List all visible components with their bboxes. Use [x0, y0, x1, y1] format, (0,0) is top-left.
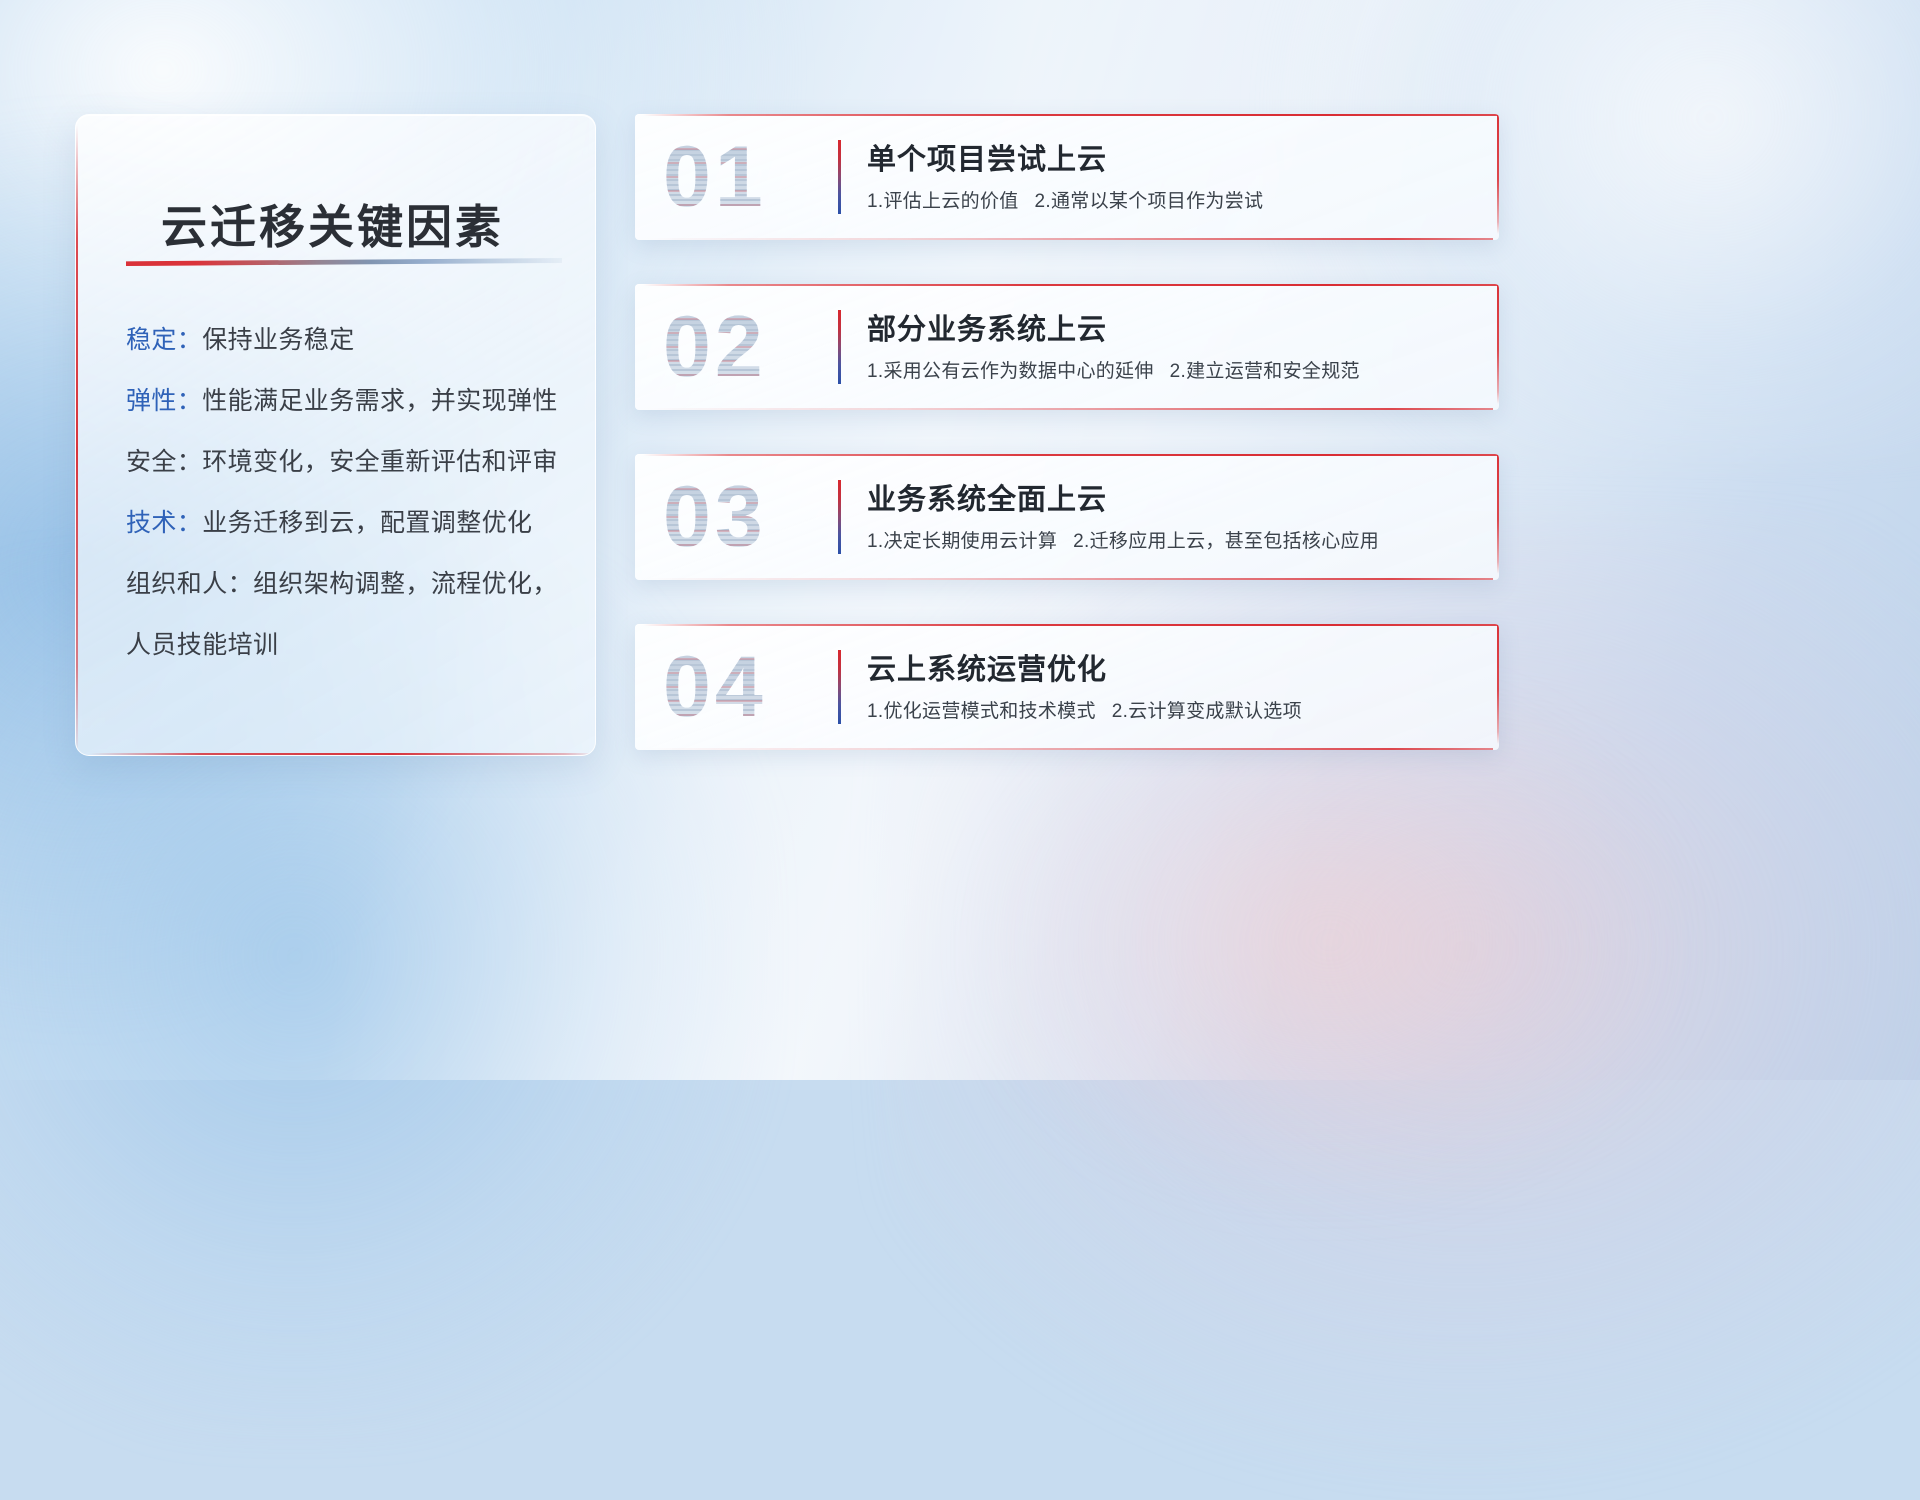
title-underline-gradient	[126, 258, 562, 266]
stage-card-bottom-edge	[645, 408, 1493, 410]
key-factor-value: 保持业务稳定	[202, 326, 354, 354]
stage-subtitle: 1.优化运营模式和技术模式2.云计算变成默认选项	[867, 696, 1302, 723]
stage-subtitle-point-2: 2.迁移应用上云，甚至包括核心应用	[1073, 531, 1379, 552]
stage-subtitle-point-1: 1.决定长期使用云计算	[867, 531, 1057, 552]
key-factor-item: 安全：环境变化，安全重新评估和评审	[126, 432, 567, 493]
stage-accent-bar	[838, 650, 841, 724]
stage-subtitle-point-2: 2.云计算变成默认选项	[1112, 701, 1302, 722]
stage-subtitle-point-2: 2.建立运营和安全规范	[1170, 361, 1360, 382]
key-factors-list: 稳定：保持业务稳定弹性：性能满足业务需求，并实现弹性安全：环境变化，安全重新评估…	[126, 310, 567, 676]
key-factors-panel: 云迁移关键因素 稳定：保持业务稳定弹性：性能满足业务需求，并实现弹性安全：环境变…	[75, 114, 596, 756]
stage-subtitle-point-1: 1.优化运营模式和技术模式	[867, 701, 1096, 722]
key-factor-value: 性能满足业务需求，并实现弹性	[202, 387, 558, 415]
stage-number-red-tint: 03	[663, 474, 767, 560]
stage-accent-bar	[838, 310, 841, 384]
stage-card-bottom-edge	[645, 748, 1493, 750]
migration-stage-card[interactable]: 010101单个项目尝试上云1.评估上云的价值2.通常以某个项目作为尝试	[635, 114, 1499, 240]
key-factor-value: 人员技能培训	[126, 631, 278, 659]
key-factor-item: 组织和人：组织架构调整，流程优化，	[126, 554, 567, 615]
stage-subtitle-point-2: 2.通常以某个项目作为尝试	[1035, 191, 1264, 212]
key-factor-label: 稳定：	[126, 326, 202, 354]
key-factor-item: 弹性：性能满足业务需求，并实现弹性	[126, 371, 567, 432]
stage-accent-bar	[838, 140, 841, 214]
stage-subtitle-point-1: 1.评估上云的价值	[867, 191, 1019, 212]
stage-number-red-tint: 01	[663, 134, 767, 220]
stage-card-bottom-edge	[645, 238, 1493, 240]
stage-subtitle-point-1: 1.采用公有云作为数据中心的延伸	[867, 361, 1154, 382]
stage-title: 云上系统运营优化	[867, 646, 1107, 688]
stage-number-red-tint: 02	[663, 304, 767, 390]
stage-subtitle: 1.采用公有云作为数据中心的延伸2.建立运营和安全规范	[867, 356, 1360, 383]
stage-number-red-tint: 04	[663, 644, 767, 730]
key-factor-item: 稳定：保持业务稳定	[126, 310, 567, 371]
panel-title: 云迁移关键因素	[161, 191, 504, 257]
key-factor-value: 环境变化，安全重新评估和评审	[202, 448, 558, 476]
key-factor-item: 人员技能培训	[126, 615, 567, 676]
key-factor-label: 安全：	[126, 448, 202, 476]
migration-stage-card[interactable]: 020202部分业务系统上云1.采用公有云作为数据中心的延伸2.建立运营和安全规…	[635, 284, 1499, 410]
key-factor-value: 业务迁移到云，配置调整优化	[202, 509, 532, 537]
stage-title: 部分业务系统上云	[867, 306, 1107, 348]
key-factor-label: 弹性：	[126, 387, 202, 415]
stage-subtitle: 1.决定长期使用云计算2.迁移应用上云，甚至包括核心应用	[867, 526, 1379, 553]
key-factor-value: 组织架构调整，流程优化，	[253, 570, 558, 598]
migration-stage-card[interactable]: 030303业务系统全面上云1.决定长期使用云计算2.迁移应用上云，甚至包括核心…	[635, 454, 1499, 580]
slide-stage: 云迁移关键因素 稳定：保持业务稳定弹性：性能满足业务需求，并实现弹性安全：环境变…	[0, 0, 1920, 1080]
key-factor-label: 组织和人：	[126, 570, 253, 598]
stage-subtitle: 1.评估上云的价值2.通常以某个项目作为尝试	[867, 186, 1263, 213]
key-factor-item: 技术：业务迁移到云，配置调整优化	[126, 493, 567, 554]
stage-card-bottom-edge	[645, 578, 1493, 580]
stage-title: 业务系统全面上云	[867, 476, 1107, 518]
stage-title: 单个项目尝试上云	[867, 136, 1107, 178]
migration-stage-card[interactable]: 040404云上系统运营优化1.优化运营模式和技术模式2.云计算变成默认选项	[635, 624, 1499, 750]
key-factor-label: 技术：	[126, 509, 202, 537]
stage-accent-bar	[838, 480, 841, 554]
